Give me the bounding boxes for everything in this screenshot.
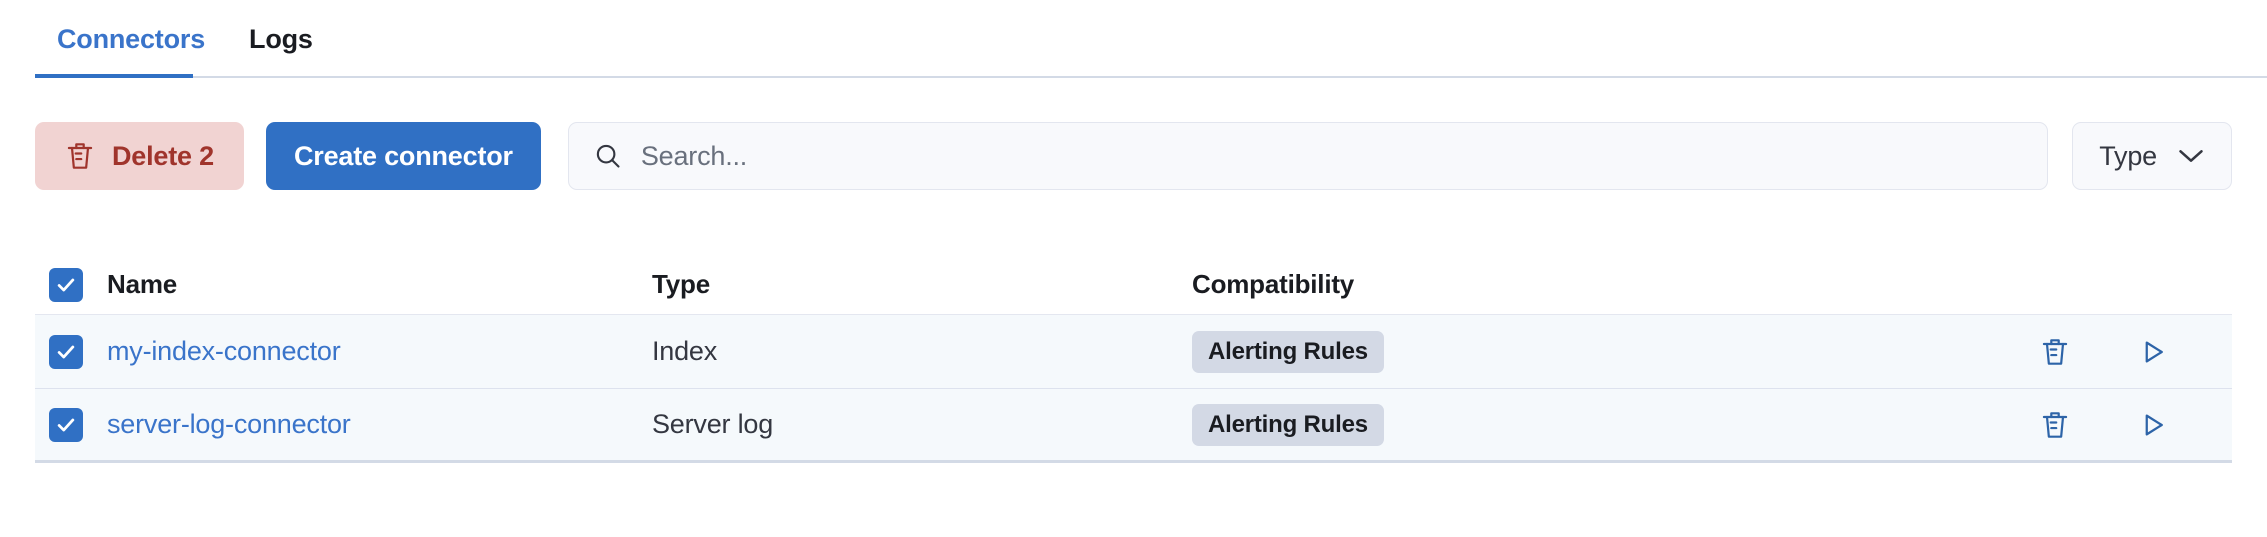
tab-logs[interactable]: Logs: [227, 0, 335, 78]
row-select-cell: [35, 408, 97, 442]
tab-connectors[interactable]: Connectors: [35, 0, 227, 78]
connectors-table: Name Type Compatibility my-index-connect…: [35, 255, 2232, 463]
type-filter-label: Type: [2099, 141, 2157, 172]
connector-name-link[interactable]: server-log-connector: [107, 409, 351, 439]
trash-icon: [2040, 336, 2070, 368]
toolbar: Delete 2 Create connector Type: [35, 122, 2232, 190]
run-icon: [2138, 410, 2168, 440]
table-header-row: Name Type Compatibility: [35, 255, 2232, 315]
trash-icon: [2040, 409, 2070, 441]
status-badge: Alerting Rules: [1192, 331, 1384, 373]
chevron-down-icon: [2177, 147, 2205, 165]
row-select-cell: [35, 335, 97, 369]
type-filter-dropdown[interactable]: Type: [2072, 122, 2232, 190]
select-all-checkbox[interactable]: [49, 268, 83, 302]
create-connector-label: Create connector: [294, 141, 513, 172]
tab-bar: Connectors Logs: [0, 0, 2267, 78]
row-name-cell: my-index-connector: [97, 336, 652, 367]
row-type-cell: Index: [652, 336, 1192, 367]
tab-logs-label: Logs: [249, 24, 313, 55]
tab-bar-divider: [35, 76, 2267, 78]
column-header-compatibility[interactable]: Compatibility: [1192, 269, 2022, 300]
search-icon: [593, 141, 623, 171]
row-actions-cell: [2022, 409, 2232, 441]
table-row: server-log-connector Server log Alerting…: [35, 389, 2232, 463]
connectors-page: Connectors Logs Delete 2 Create connec: [0, 0, 2267, 537]
status-badge: Alerting Rules: [1192, 404, 1384, 446]
delete-button-label: Delete 2: [112, 141, 214, 172]
row-compatibility-cell: Alerting Rules: [1192, 331, 2022, 373]
column-header-name[interactable]: Name: [97, 269, 652, 300]
delete-row-button[interactable]: [2040, 409, 2070, 441]
row-name-cell: server-log-connector: [97, 409, 652, 440]
row-compatibility-cell: Alerting Rules: [1192, 404, 2022, 446]
trash-icon: [65, 140, 95, 172]
run-icon: [2138, 337, 2168, 367]
row-checkbox[interactable]: [49, 335, 83, 369]
row-actions-cell: [2022, 336, 2232, 368]
run-row-button[interactable]: [2138, 410, 2168, 440]
tab-active-indicator: [35, 74, 193, 78]
create-connector-button[interactable]: Create connector: [266, 122, 541, 190]
tab-connectors-label: Connectors: [57, 24, 205, 55]
run-row-button[interactable]: [2138, 337, 2168, 367]
delete-button[interactable]: Delete 2: [35, 122, 244, 190]
row-checkbox[interactable]: [49, 408, 83, 442]
select-all-cell: [35, 268, 97, 302]
search-field[interactable]: [568, 122, 2048, 190]
row-type-cell: Server log: [652, 409, 1192, 440]
search-input[interactable]: [641, 141, 2023, 172]
delete-row-button[interactable]: [2040, 336, 2070, 368]
connector-name-link[interactable]: my-index-connector: [107, 336, 341, 366]
table-row: my-index-connector Index Alerting Rules: [35, 315, 2232, 389]
column-header-type[interactable]: Type: [652, 269, 1192, 300]
